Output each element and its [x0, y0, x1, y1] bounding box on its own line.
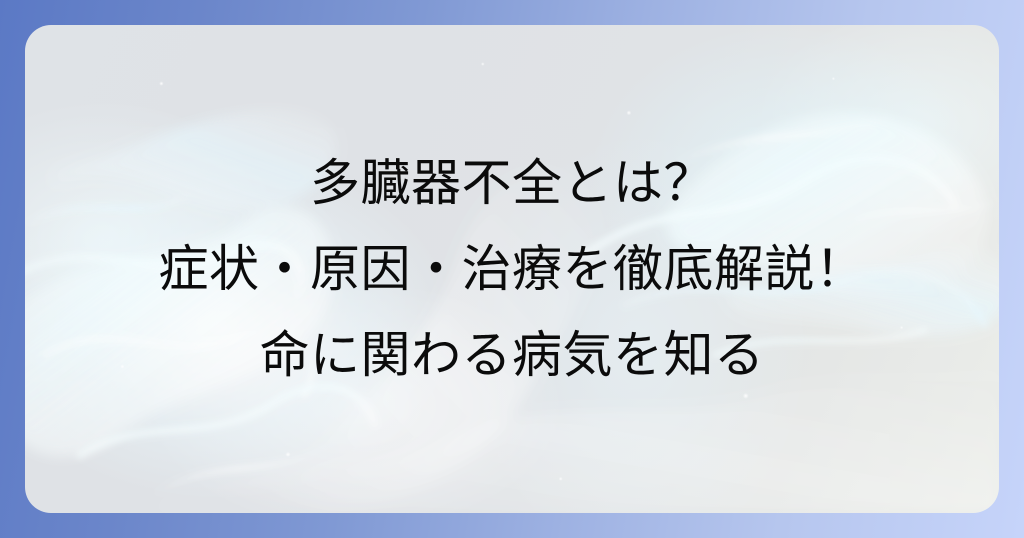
eyecatch-canvas: 多臓器不全とは？ 症状・原因・治療を徹底解説！ 命に関わる病気を知る [0, 0, 1024, 538]
headline-block: 多臓器不全とは？ 症状・原因・治療を徹底解説！ 命に関わる病気を知る [25, 25, 999, 513]
content-card: 多臓器不全とは？ 症状・原因・治療を徹底解説！ 命に関わる病気を知る [25, 25, 999, 513]
headline-line-3: 命に関わる病気を知る [260, 312, 765, 398]
headline-line-2: 症状・原因・治療を徹底解説！ [159, 226, 866, 312]
headline-line-1: 多臓器不全とは？ [310, 140, 714, 226]
